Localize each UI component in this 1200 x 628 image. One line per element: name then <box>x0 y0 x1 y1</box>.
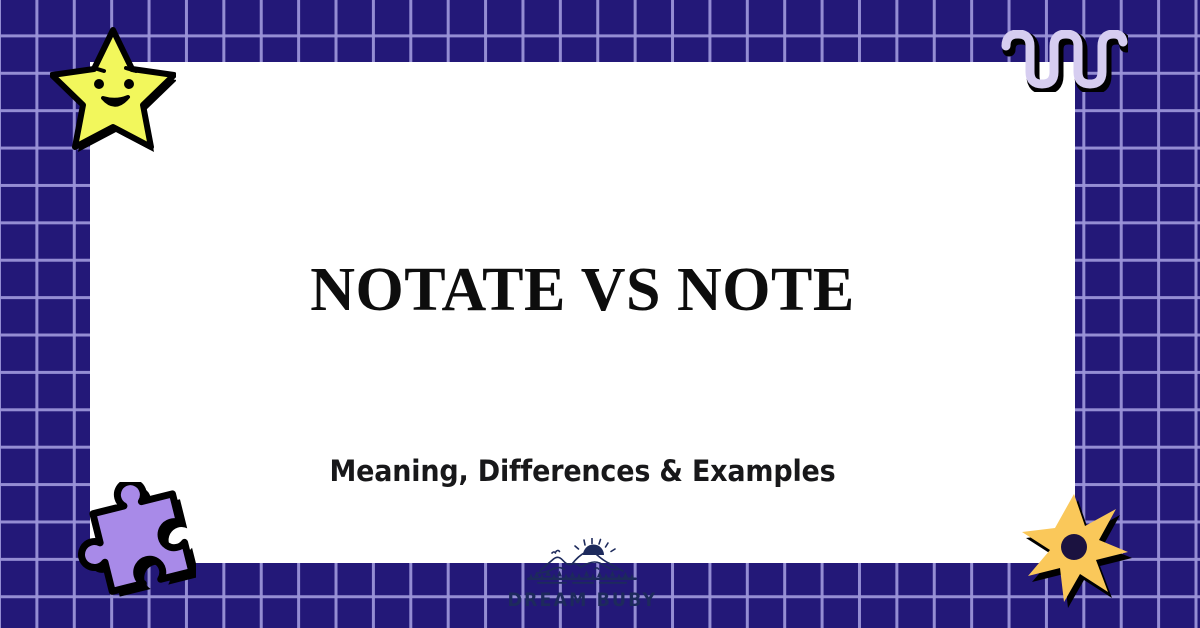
mountain-sun-logo-icon <box>522 538 644 588</box>
content-card: NOTATE VS NOTE Meaning, Differences & Ex… <box>90 62 1075 563</box>
brand-logo: DREAM BUBY <box>90 538 1075 611</box>
starburst-icon <box>1020 492 1136 608</box>
page-title: NOTATE VS NOTE <box>90 258 1075 323</box>
brand-wordmark: DREAM BUBY <box>508 589 658 611</box>
puzzle-piece-icon <box>78 482 196 610</box>
page-subtitle: Meaning, Differences & Examples <box>124 454 1040 488</box>
squiggle-icon <box>998 30 1128 92</box>
poster-canvas: NOTATE VS NOTE Meaning, Differences & Ex… <box>0 0 1200 628</box>
card-inner: NOTATE VS NOTE Meaning, Differences & Ex… <box>90 62 1075 563</box>
smiling-star-icon <box>50 22 176 152</box>
